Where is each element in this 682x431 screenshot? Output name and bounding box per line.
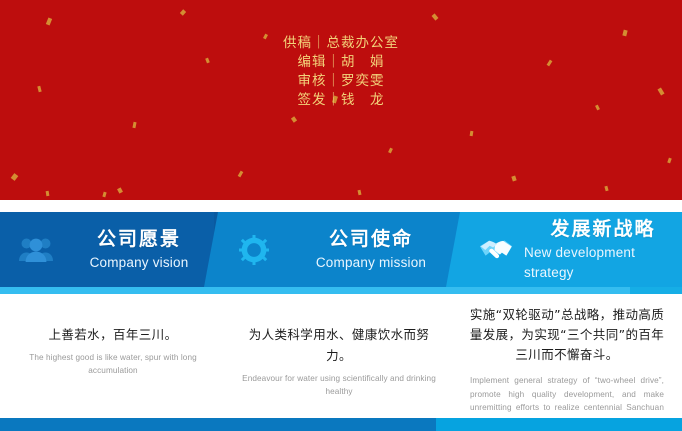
panel-title: 发展新战略 bbox=[550, 217, 655, 241]
bottom-strip-right bbox=[436, 418, 682, 431]
panel-underline-strip bbox=[0, 287, 682, 294]
panel-title: 公司使命 bbox=[329, 227, 413, 251]
credits-block: 供稿｜总裁办公室 编辑｜胡 娟 审核｜罗奕雯 签发｜钱 龙 bbox=[0, 34, 682, 110]
credit-line-issuer: 签发｜钱 龙 bbox=[0, 91, 682, 110]
column-chinese-text: 为人类科学用水、健康饮水而努力。 bbox=[236, 324, 442, 366]
panel-company-mission[interactable]: 公司使命 Company mission bbox=[204, 212, 460, 287]
column-chinese-text: 上善若水，百年三川。 bbox=[16, 324, 210, 345]
handshake-icon bbox=[474, 230, 518, 270]
credit-line-editor: 编辑｜胡 娟 bbox=[0, 53, 682, 72]
panel-subtitle: New development strategy bbox=[524, 243, 682, 283]
panel-company-vision[interactable]: 公司愿景 Company vision bbox=[0, 212, 214, 287]
bottom-strip bbox=[0, 418, 682, 431]
bottom-strip-left bbox=[0, 418, 436, 431]
panel-new-development-strategy[interactable]: 发展新战略 New development strategy bbox=[446, 212, 682, 287]
credit-line-contributor: 供稿｜总裁办公室 bbox=[0, 34, 682, 53]
red-banner: 供稿｜总裁办公室 编辑｜胡 娟 审核｜罗奕雯 签发｜钱 龙 bbox=[0, 0, 682, 200]
column-chinese-text: 实施“双轮驱动”总战略，推动高质量发展，为实现“三个共同”的百年三川而不懈奋斗。 bbox=[464, 305, 670, 365]
column-company-mission: 为人类科学用水、健康饮水而努力。 Endeavour for water usi… bbox=[226, 300, 452, 398]
panel-title: 公司愿景 bbox=[97, 227, 181, 251]
gear-icon bbox=[232, 230, 276, 270]
column-english-text: Endeavour for water using scientifically… bbox=[236, 373, 442, 398]
text-columns: 上善若水，百年三川。 The highest good is like wate… bbox=[0, 300, 682, 410]
column-company-vision: 上善若水，百年三川。 The highest good is like wate… bbox=[0, 300, 226, 377]
panel-subtitle: Company vision bbox=[90, 253, 189, 273]
underline-segment-right bbox=[630, 287, 682, 294]
group-people-icon bbox=[14, 230, 58, 270]
panel-subtitle: Company mission bbox=[316, 253, 426, 273]
underline-segment-left bbox=[0, 287, 636, 294]
column-new-development-strategy: 实施“双轮驱动”总战略，推动高质量发展，为实现“三个共同”的百年三川而不懈奋斗。… bbox=[452, 300, 682, 428]
value-panels: 公司愿景 Company vision bbox=[0, 212, 682, 294]
credit-line-reviewer: 审核｜罗奕雯 bbox=[0, 72, 682, 91]
slide-page: 供稿｜总裁办公室 编辑｜胡 娟 审核｜罗奕雯 签发｜钱 龙 bbox=[0, 0, 682, 431]
column-english-text: The highest good is like water, spur wit… bbox=[16, 352, 210, 377]
